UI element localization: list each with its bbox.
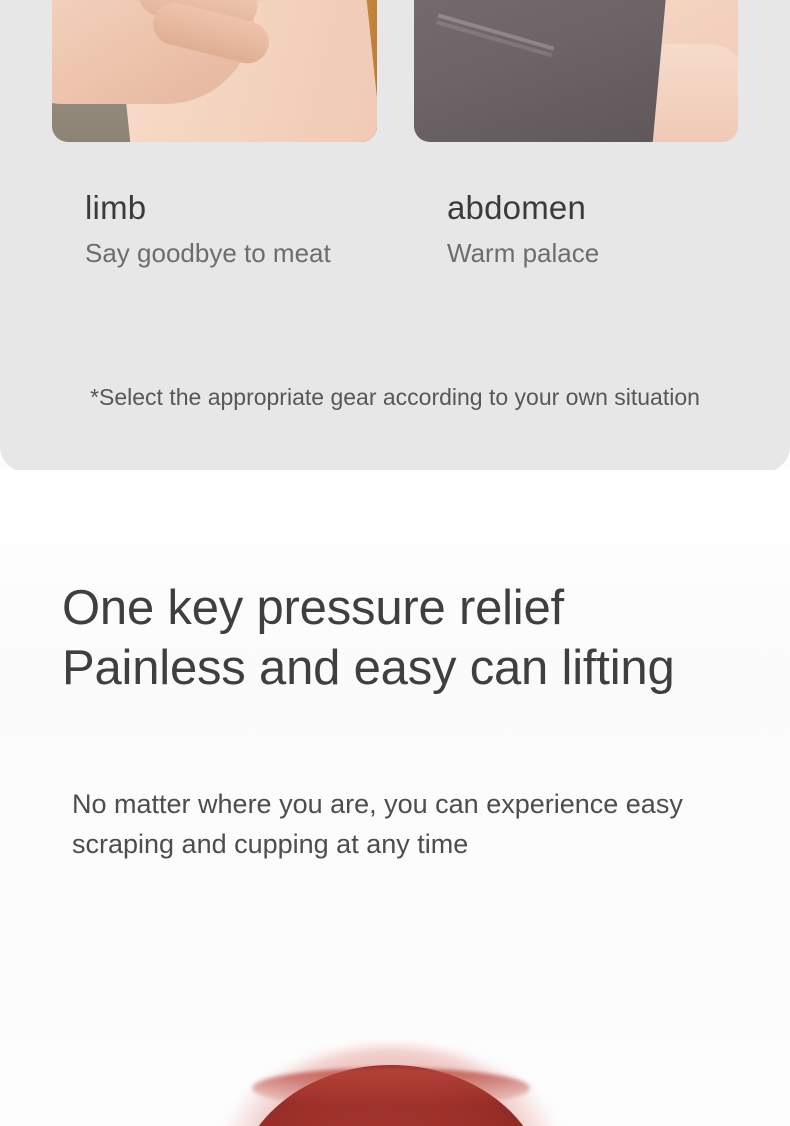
usage-photo-row — [0, 0, 790, 142]
product-image-container — [0, 1040, 790, 1126]
usage-label-limb: limb Say goodbye to meat — [85, 188, 331, 269]
usage-subtitle-abdomen: Warm palace — [447, 237, 599, 269]
limb-usage-photo — [52, 0, 377, 142]
feature-headline-line1: One key pressure relief — [62, 581, 564, 635]
usage-title-limb: limb — [85, 188, 331, 228]
product-rim-highlight — [252, 1068, 530, 1108]
abdomen-usage-photo — [414, 0, 738, 142]
feature-body-line1: No matter where you are, you can experie… — [72, 784, 732, 824]
usage-title-abdomen: abdomen — [447, 188, 599, 228]
feature-section: One key pressure relief Painless and eas… — [0, 470, 790, 1126]
product-detail-page: limb Say goodbye to meat abdomen Warm pa… — [0, 0, 790, 1126]
usage-footnote: *Select the appropriate gear according t… — [0, 381, 790, 413]
feature-body-line2: scraping and cupping at any time — [72, 824, 732, 864]
usage-subtitle-limb: Say goodbye to meat — [85, 237, 331, 269]
usage-card-limb-photo[interactable] — [52, 0, 377, 142]
feature-headline-line2: Painless and easy can lifting — [62, 638, 782, 698]
feature-headline: One key pressure relief Painless and eas… — [62, 578, 782, 698]
usage-card-abdomen-photo[interactable] — [414, 0, 738, 142]
feature-body-copy: No matter where you are, you can experie… — [72, 784, 732, 864]
usage-label-abdomen: abdomen Warm palace — [447, 188, 599, 269]
